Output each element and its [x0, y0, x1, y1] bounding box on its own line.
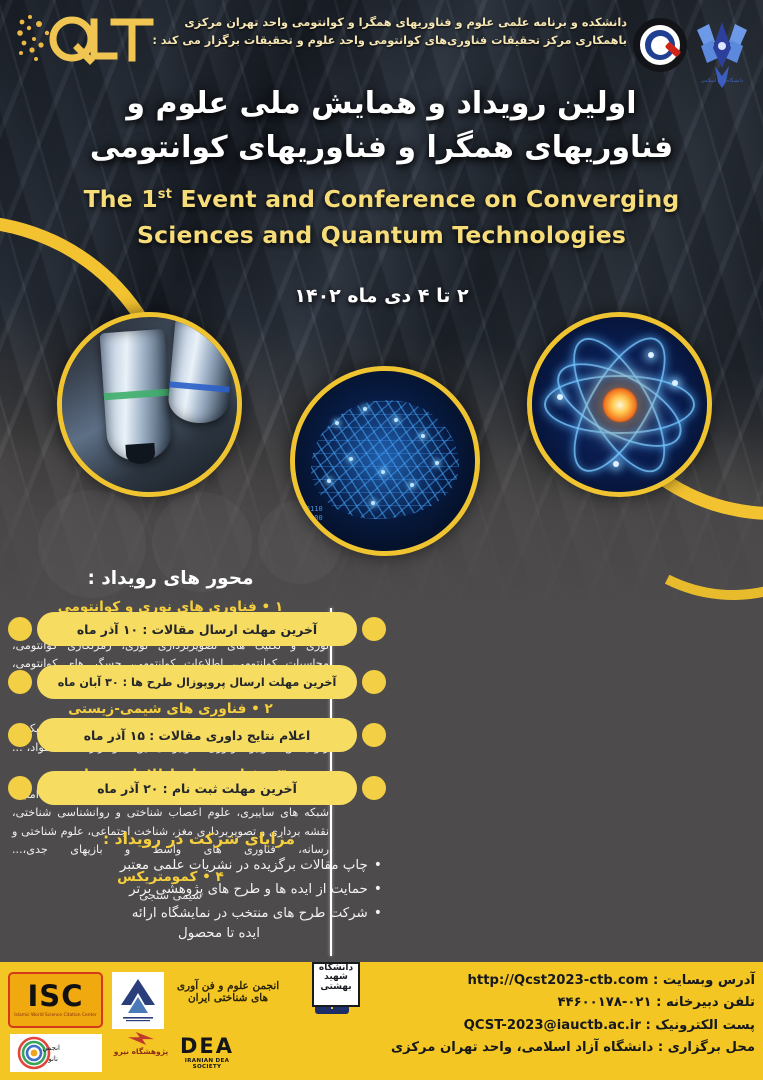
partner-logos-top: دانشگاه آزاد اسلامی — [631, 6, 755, 92]
sponsor-logos: ISC Islamic World Science Citation Cente… — [0, 962, 360, 1080]
venue-row: محل برگزاری : دانشگاه آزاد اسلامی، واحد … — [350, 1037, 755, 1059]
email-label: پست الکترونیک : — [645, 1018, 755, 1033]
bullet-dot-icon — [8, 617, 32, 641]
deadlines-section: آخرین مهلت ارسال مقالات : ۱۰ آذر ماه آخر… — [8, 612, 386, 824]
lightning-bolt-icon — [128, 1032, 154, 1045]
atom-image — [527, 312, 712, 497]
benefit-item: •حمایت از ایده ها و طرح های پژوهشی برتر — [14, 879, 384, 901]
contact-block: آدرس وبسایت : http://Qcst2023-ctb.com تل… — [350, 970, 755, 1060]
phone-value: ۰۲۱-۴۴۶۰۰۱۷۸ — [557, 995, 651, 1010]
bullet-dot-icon — [8, 723, 32, 747]
website-value[interactable]: http://Qcst2023-ctb.com — [468, 973, 649, 988]
poster-footer: آدرس وبسایت : http://Qcst2023-ctb.com تل… — [0, 962, 763, 1080]
website-row: آدرس وبسایت : http://Qcst2023-ctb.com — [350, 970, 755, 992]
bullet-icon: • — [374, 903, 382, 925]
svg-text:انجمن: انجمن — [42, 1044, 60, 1052]
bullet-dot-icon — [8, 776, 32, 800]
title-en-line-1: The 1st Event and Conference on Convergi… — [0, 182, 763, 218]
isc-logo-subtitle: Islamic World Science Citation Center — [14, 1013, 96, 1018]
title-fa-line-1: اولین رویداد و همایش ملی علوم و — [0, 82, 763, 126]
deadline-row: اعلام نتایج داوری مقالات : ۱۵ آذر ماه — [8, 718, 386, 752]
bullet-dot-icon — [362, 776, 386, 800]
website-label: آدرس وبسایت : — [653, 973, 755, 988]
cognitive-science-society-logo: انجمن علوم و فن آوری های شناختی ایران — [168, 980, 288, 1004]
benefits-section: مزایای شرکت در رویداد : •چاپ مقالات برگز… — [14, 830, 384, 941]
deadline-row: آخرین مهلت ارسال پروپوزال طرح ها : ۳۰ آب… — [8, 665, 386, 699]
bullet-dot-icon — [8, 670, 32, 694]
microscope-objectives-image — [57, 312, 242, 497]
title-en-prefix: The 1 — [84, 185, 158, 213]
svg-text:نانو: نانو — [47, 1055, 58, 1063]
bullet-dot-icon — [362, 670, 386, 694]
dea-logo-subtitle: IRANIAN DEA SOCIETY — [174, 1058, 240, 1070]
conference-poster: دانشکده و برنامه علمی علوم و فناوریهای ه… — [0, 0, 763, 1080]
title-en-ordinal: st — [158, 187, 172, 202]
email-value[interactable]: QCST-2023@iauctb.ac.ir — [464, 1018, 641, 1033]
benefit-text: شرکت طرح های منتخب در نمایشگاه ارائه — [132, 906, 368, 921]
page-title-en: The 1st Event and Conference on Convergi… — [0, 182, 763, 253]
rainbow-institute-logo: انجمن نانو — [10, 1034, 102, 1072]
benefits-heading: مزایای شرکت در رویداد : — [14, 830, 384, 848]
deadline-pill-2: آخرین مهلت ارسال پروپوزال طرح ها : ۳۰ آب… — [37, 665, 357, 699]
shahid-beheshti-university-logo: دانشگاه شهید بهشتی — [312, 962, 360, 1007]
benefit-item: •شرکت طرح های منتخب در نمایشگاه ارائه — [14, 903, 384, 925]
topics-heading: محور های رویداد : — [8, 568, 333, 589]
deadline-pill-4: آخرین مهلت ثبت نام : ۲۰ آذر ماه — [37, 771, 357, 805]
intro-line-1: دانشکده و برنامه علمی علوم و فناوریهای ه… — [137, 14, 627, 32]
intro-line-2: باهمکاری مرکز تحقیقات فناوری‌های کوانتوم… — [137, 32, 627, 50]
bullet-icon: • — [374, 855, 382, 877]
deadline-pill-1: آخرین مهلت ارسال مقالات : ۱۰ آذر ماه — [37, 612, 357, 646]
event-date: ۲ تا ۴ دی ماه ۱۴۰۲ — [0, 285, 763, 307]
niroo-logo-text: پژوهشگاه نیرو — [112, 1047, 170, 1056]
qcst-logo — [14, 8, 156, 70]
title-fa-line-2: فناوریهای همگرا و فناوریهای کوانتومی — [0, 126, 763, 170]
benefit-item: •چاپ مقالات برگزیده در نشریات علمی معتبر — [14, 855, 384, 877]
benefit-continuation: ایده تا محصول — [14, 926, 384, 941]
circuit-brain-image: 0110 0100 1001 1001 — [290, 366, 480, 556]
dea-logo-text: DEA — [174, 1036, 240, 1057]
binary-digits: 0110 0100 1001 1001 — [306, 505, 323, 540]
bullet-icon: • — [374, 879, 382, 901]
phone-label: تلفن دبیرخانه : — [656, 995, 755, 1010]
qcst-circle-logo — [633, 18, 687, 72]
deadline-row: آخرین مهلت ارسال مقالات : ۱۰ آذر ماه — [8, 612, 386, 646]
isc-logo: ISC Islamic World Science Citation Cente… — [8, 972, 103, 1028]
page-title-fa: اولین رویداد و همایش ملی علوم و فناوریها… — [0, 82, 763, 169]
deadline-row: آخرین مهلت ثبت نام : ۲۰ آذر ماه — [8, 771, 386, 805]
host-intro: دانشکده و برنامه علمی علوم و فناوریهای ه… — [137, 14, 627, 51]
bullet-dot-icon — [362, 617, 386, 641]
title-en-rest: Event and Conference on Converging — [172, 185, 679, 213]
bullet-dot-icon — [362, 723, 386, 747]
phone-row: تلفن دبیرخانه : ۰۲۱-۴۴۶۰۰۱۷۸ — [350, 992, 755, 1014]
title-en-line-2: Sciences and Quantum Technologies — [0, 218, 763, 254]
email-row: پست الکترونیک : QCST-2023@iauctb.ac.ir — [350, 1015, 755, 1037]
isc-logo-text: ISC — [28, 982, 84, 1011]
iranian-dea-society-logo: DEA IRANIAN DEA SOCIETY — [174, 1036, 240, 1072]
poster-topbar: دانشکده و برنامه علمی علوم و فناوریهای ه… — [0, 0, 763, 92]
benefit-text: حمایت از ایده ها و طرح های پژوهشی برتر — [129, 882, 368, 897]
niroo-research-institute-logo: پژوهشگاه نیرو — [112, 1032, 170, 1076]
benefit-text: چاپ مقالات برگزیده در نشریات علمی معتبر — [120, 858, 368, 873]
nucleus-glow — [602, 387, 638, 423]
deadline-pill-3: اعلام نتایج داوری مقالات : ۱۵ آذر ماه — [37, 718, 357, 752]
venue-label: محل برگزاری : — [658, 1040, 755, 1055]
venue-value: دانشگاه آزاد اسلامی، واحد تهران مرکزی — [391, 1040, 653, 1055]
sharif-university-logo — [112, 972, 164, 1029]
